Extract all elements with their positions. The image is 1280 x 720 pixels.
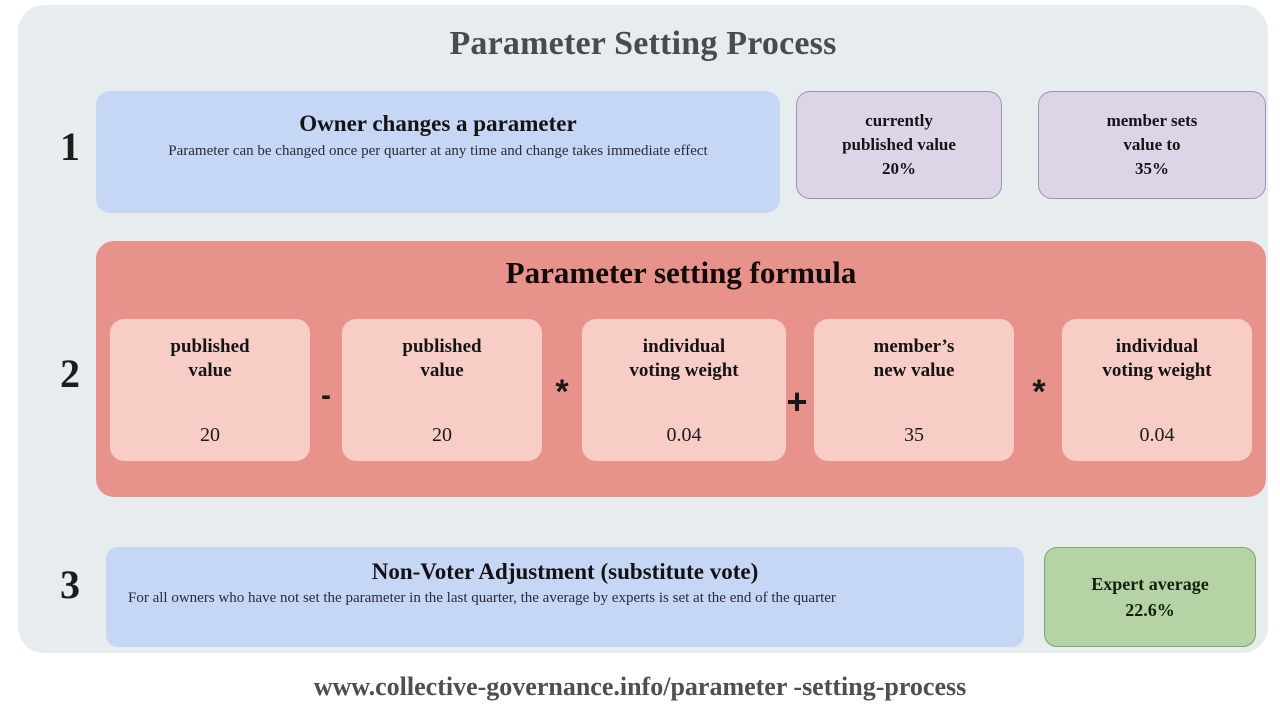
operator-minus-icon: - <box>308 379 344 413</box>
formula-term-individual-voting-weight-1: individual voting weight 0.04 <box>582 319 786 461</box>
formula-term-5-line1: individual <box>1116 336 1198 357</box>
step-number-2: 2 <box>40 350 100 397</box>
formula-title: Parameter setting formula <box>96 255 1266 291</box>
formula-term-1-value: 20 <box>110 424 310 447</box>
member-sets-value-line2: value to <box>1123 133 1180 157</box>
currently-published-value-amount: 20% <box>882 157 916 181</box>
formula-term-4-line2: new value <box>874 360 955 381</box>
step-number-1: 1 <box>40 123 100 170</box>
formula-term-2-line2: value <box>420 360 463 381</box>
formula-expression: published value 20 - published value 20 … <box>96 319 1266 471</box>
step-number-3: 3 <box>40 561 100 608</box>
formula-term-published-value-2: published value 20 <box>342 319 542 461</box>
operator-plus-icon: + <box>778 381 816 423</box>
non-voter-adjustment-headline: Non-Voter Adjustment (substitute vote) <box>128 559 1002 585</box>
parameter-setting-formula-card: Parameter setting formula published valu… <box>96 241 1266 497</box>
formula-term-members-new-value: member’s new value 35 <box>814 319 1014 461</box>
currently-published-value-line1: currently <box>865 109 933 133</box>
member-sets-value-amount: 35% <box>1135 157 1169 181</box>
operator-multiply-icon-1: * <box>540 373 584 412</box>
non-voter-adjustment-body: For all owners who have not set the para… <box>128 589 1002 609</box>
formula-term-published-value-1: published value 20 <box>110 319 310 461</box>
owner-changes-parameter-card: Owner changes a parameter Parameter can … <box>96 91 780 213</box>
formula-term-1-line1: published <box>170 336 249 357</box>
member-sets-value-chip: member sets value to 35% <box>1038 91 1266 199</box>
formula-term-1-line2: value <box>188 360 231 381</box>
expert-average-chip: Expert average 22.6% <box>1044 547 1256 647</box>
non-voter-adjustment-card: Non-Voter Adjustment (substitute vote) F… <box>106 547 1024 647</box>
member-sets-value-line1: member sets <box>1107 109 1198 133</box>
diagram-canvas: Parameter Setting Process 1 2 3 Owner ch… <box>0 0 1280 720</box>
formula-term-5-line2: voting weight <box>1102 360 1211 381</box>
currently-published-value-line2: published value <box>842 133 956 157</box>
page-title: Parameter Setting Process <box>18 25 1268 63</box>
formula-term-individual-voting-weight-2: individual voting weight 0.04 <box>1062 319 1252 461</box>
owner-changes-parameter-headline: Owner changes a parameter <box>122 111 754 137</box>
formula-term-3-value: 0.04 <box>582 424 786 447</box>
owner-changes-parameter-body: Parameter can be changed once per quarte… <box>122 142 754 161</box>
formula-term-5-value: 0.04 <box>1062 424 1252 447</box>
formula-term-3-line1: individual <box>643 336 725 357</box>
formula-term-2-line1: published <box>402 336 481 357</box>
currently-published-value-chip: currently published value 20% <box>796 91 1002 199</box>
footer-url[interactable]: www.collective-governance.info/parameter… <box>0 672 1280 702</box>
formula-term-4-value: 35 <box>814 424 1014 447</box>
expert-average-value: 22.6% <box>1125 597 1175 623</box>
formula-term-2-value: 20 <box>342 424 542 447</box>
operator-multiply-icon-2: * <box>1014 373 1064 412</box>
main-panel: Parameter Setting Process 1 2 3 Owner ch… <box>18 5 1268 653</box>
formula-term-3-line2: voting weight <box>629 360 738 381</box>
formula-term-4-line1: member’s <box>874 336 955 357</box>
expert-average-label: Expert average <box>1091 571 1208 597</box>
